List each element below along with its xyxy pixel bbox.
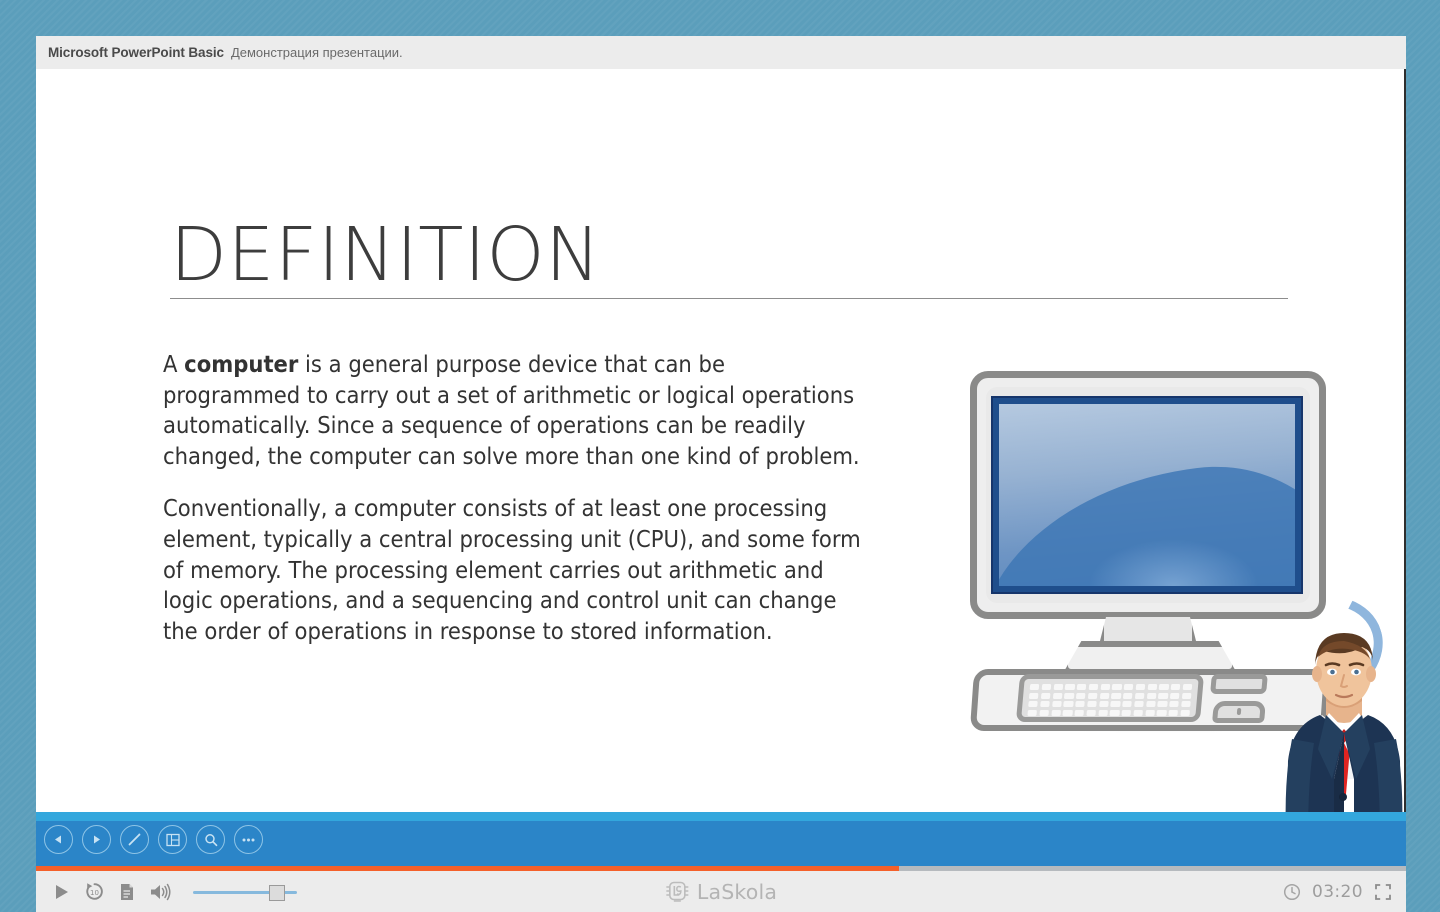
keyword-computer: computer	[184, 350, 298, 378]
keyboard-row	[1027, 710, 1190, 716]
previous-slide-button[interactable]	[44, 825, 73, 854]
presenter-avatar	[1274, 629, 1406, 812]
app-title: Microsoft PowerPoint Basic	[48, 45, 224, 60]
volume-slider[interactable]	[193, 885, 297, 899]
annotate-button[interactable]	[120, 825, 149, 854]
control-left-group: 10	[36, 881, 297, 902]
paragraph1-lead: A	[163, 350, 184, 378]
slide-layout-button[interactable]	[158, 825, 187, 854]
zoom-search-button[interactable]	[196, 825, 225, 854]
more-options-button[interactable]	[234, 825, 263, 854]
numpad-icon	[1210, 674, 1268, 694]
transcript-button[interactable]	[118, 882, 136, 902]
player-control-bar: 10	[36, 871, 1406, 912]
document-icon	[118, 882, 136, 902]
fullscreen-button[interactable]	[1374, 883, 1392, 901]
keyboard-row	[1028, 701, 1191, 707]
triangle-right-icon	[91, 834, 102, 845]
slide-paragraph-2: Conventionally, a computer consists of a…	[163, 493, 863, 646]
title-divider	[170, 298, 1288, 299]
navigation-toolbar	[36, 821, 1406, 866]
screen-glow	[1088, 539, 1260, 586]
laskola-monogram-icon	[665, 879, 690, 905]
slide-stage: DEFINITION A computer is a general purpo…	[36, 69, 1406, 812]
brand-name: LaSkola	[697, 880, 777, 904]
brand-logo: LaSkola	[665, 879, 777, 905]
toolbar-icon-group	[44, 825, 263, 854]
triangle-left-icon	[53, 834, 64, 845]
slide-body: A computer is a general purpose device t…	[163, 349, 863, 668]
play-button[interactable]	[51, 882, 71, 902]
replay-10-icon: 10	[84, 881, 105, 902]
svg-text:10: 10	[90, 889, 99, 897]
keyboard-icon	[1016, 674, 1204, 722]
presentation-subtitle: Демонстрация презентации.	[231, 45, 403, 60]
player-header: Microsoft PowerPoint Basic Демонстрация …	[36, 36, 1406, 69]
ellipsis-icon	[241, 837, 256, 843]
layout-icon	[166, 833, 180, 847]
accent-strip	[36, 812, 1406, 821]
volume-knob[interactable]	[269, 885, 285, 901]
slide-paragraph-1: A computer is a general purpose device t…	[163, 349, 863, 471]
volume-icon	[149, 882, 172, 902]
play-icon	[51, 882, 71, 902]
next-slide-button[interactable]	[82, 825, 111, 854]
monitor-screen	[991, 396, 1303, 594]
keyboard-row	[1030, 684, 1193, 690]
presentation-player: Microsoft PowerPoint Basic Демонстрация …	[36, 36, 1406, 876]
mouse-icon	[1212, 701, 1266, 723]
control-right-group: 03:20	[1283, 882, 1392, 902]
slide-title: DEFINITION	[170, 212, 601, 298]
screen-wallpaper	[999, 404, 1295, 586]
pencil-icon	[127, 832, 142, 847]
replay-10-button[interactable]: 10	[84, 881, 105, 902]
elapsed-time: 03:20	[1312, 882, 1363, 902]
magnifier-icon	[204, 833, 218, 847]
keyboard-row	[1029, 693, 1192, 699]
clock-icon	[1283, 883, 1301, 901]
volume-button[interactable]	[149, 882, 172, 902]
